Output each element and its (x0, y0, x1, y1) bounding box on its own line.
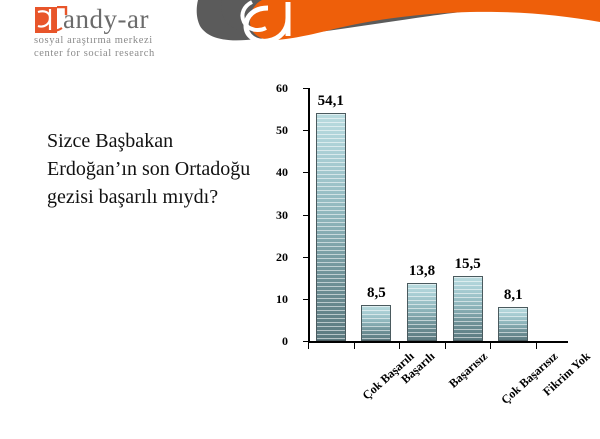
logo-subtitle-en: center for social research (34, 48, 155, 59)
y-tick-label: 30 (248, 209, 288, 221)
bar-chart: 0102030405060 54,18,513,815,58,1 Çok Baş… (270, 78, 590, 378)
y-tick-label: 10 (248, 293, 288, 305)
x-axis-label: Başarısız (446, 349, 491, 391)
x-axis-line (308, 341, 568, 343)
x-tick-mark (490, 343, 491, 349)
y-tick-mark (303, 130, 308, 131)
question-text: Sizce Başbakan Erdoğan’ın son Ortadoğu g… (47, 127, 262, 211)
banner-orange-band (250, 0, 600, 40)
bar (498, 307, 528, 341)
logo-wordmark: andy-ar (63, 4, 149, 34)
brand-logo: andy-ar sosyal araştırma merkezi center … (34, 4, 224, 60)
y-tick-label: 0 (248, 335, 288, 347)
slide-canvas: andy-ar sosyal araştırma merkezi center … (0, 0, 600, 439)
bar (316, 113, 346, 341)
x-tick-mark (308, 343, 309, 349)
bar-value-label: 8,1 (483, 287, 543, 304)
bar (453, 276, 483, 341)
logo-subtitle-tr: sosyal araştırma merkezi (34, 35, 153, 46)
bar-value-label: 54,1 (301, 93, 361, 110)
x-tick-mark (536, 343, 537, 349)
y-tick-mark (303, 88, 308, 89)
bar (407, 283, 437, 341)
y-tick-label: 60 (248, 82, 288, 94)
y-tick-mark (303, 215, 308, 216)
y-tick-label: 20 (248, 251, 288, 263)
x-tick-mark (354, 343, 355, 349)
y-tick-mark (303, 172, 308, 173)
bar-value-label: 15,5 (438, 256, 498, 273)
y-tick-mark (303, 341, 308, 342)
bar-value-label: 8,5 (346, 285, 406, 302)
y-tick-label: 40 (248, 166, 288, 178)
x-tick-mark (399, 343, 400, 349)
x-tick-mark (445, 343, 446, 349)
y-axis-line (308, 88, 310, 343)
y-tick-mark (303, 299, 308, 300)
y-tick-mark (303, 257, 308, 258)
y-tick-label: 50 (248, 124, 288, 136)
bar (361, 305, 391, 341)
